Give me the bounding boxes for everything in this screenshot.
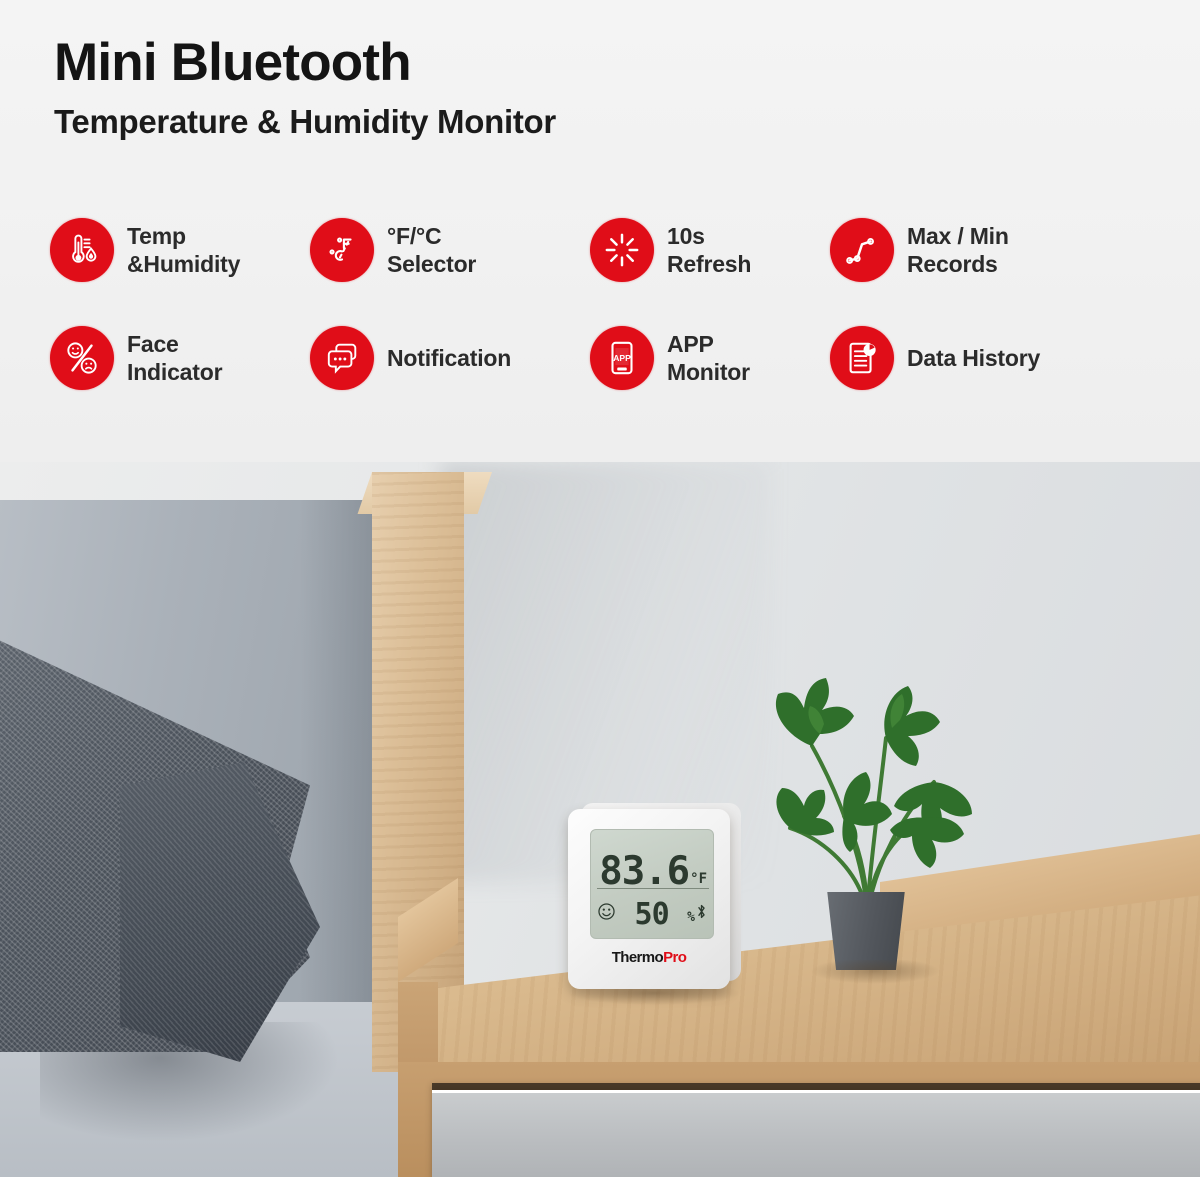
page-title: Mini Bluetooth <box>54 36 556 89</box>
max-min-trend-icon <box>830 218 894 282</box>
brand-name-part1: Thermo <box>612 949 663 966</box>
brand-name-part2: Pro <box>663 949 686 966</box>
pot-shadow <box>810 960 940 984</box>
feature-item-max-min: Max / Min Records <box>830 196 1120 304</box>
feature-item-unit-selector: °F/°C Selector <box>310 196 590 304</box>
lcd-screen: 83.6 °F 50 <box>590 829 714 939</box>
feature-item-refresh: 10s Refresh <box>590 196 830 304</box>
lcd-temperature-row: 83.6 °F <box>591 832 713 890</box>
lcd-temperature-unit: °F <box>690 871 707 887</box>
product-promo-image: Mini Bluetooth Temperature & Humidity Mo… <box>0 0 1200 1177</box>
comfort-face-icon <box>597 902 616 926</box>
feature-label: °F/°C Selector <box>387 222 476 278</box>
feature-grid: Temp &Humidity <box>50 196 1160 412</box>
svg-text:APP: APP <box>613 353 631 363</box>
feature-label: Max / Min Records <box>907 222 1009 278</box>
lcd-humidity-row: 50 % <box>591 890 713 938</box>
thermometer-humidity-icon <box>50 218 114 282</box>
lcd-humidity-unit: % <box>687 910 695 925</box>
feature-item-notification: Notification <box>310 304 590 412</box>
feature-label: Data History <box>907 344 1040 372</box>
bluetooth-icon <box>696 903 707 925</box>
feature-item-data-history: Data History <box>830 304 1120 412</box>
feature-label: Face Indicator <box>127 330 222 386</box>
notification-bubbles-icon <box>310 326 374 390</box>
feature-item-temp-humidity: Temp &Humidity <box>50 196 310 304</box>
data-history-document-icon <box>830 326 894 390</box>
refresh-spinner-icon <box>590 218 654 282</box>
page-subtitle: Temperature & Humidity Monitor <box>54 103 556 141</box>
lcd-humidity-value: 50 <box>635 897 669 932</box>
promo-panel: Mini Bluetooth Temperature & Humidity Mo… <box>0 0 1200 462</box>
feature-item-face-indicator: Face Indicator <box>50 304 310 412</box>
feature-item-app-monitor: APP APP Monitor <box>590 304 830 412</box>
lcd-temperature-value: 83.6 <box>599 853 689 890</box>
plant-pot <box>822 892 910 970</box>
lcd-divider <box>597 888 709 889</box>
face-indicator-icon <box>50 326 114 390</box>
feature-label: APP Monitor <box>667 330 750 386</box>
nightstand-drawer <box>432 1090 1200 1177</box>
lifestyle-photo: 83.6 °F 50 <box>0 462 1200 1177</box>
thermometer-device: 83.6 °F 50 <box>563 797 755 1002</box>
device-front-shell: 83.6 °F 50 <box>568 809 730 989</box>
monstera-plant <box>760 642 990 972</box>
feature-label: 10s Refresh <box>667 222 751 278</box>
device-brand-logo: ThermoPro <box>568 949 730 966</box>
title-block: Mini Bluetooth Temperature & Humidity Mo… <box>54 36 556 141</box>
feature-label: Notification <box>387 344 511 372</box>
app-phone-icon: APP <box>590 326 654 390</box>
feature-label: Temp &Humidity <box>127 222 240 278</box>
fahrenheit-celsius-selector-icon <box>310 218 374 282</box>
